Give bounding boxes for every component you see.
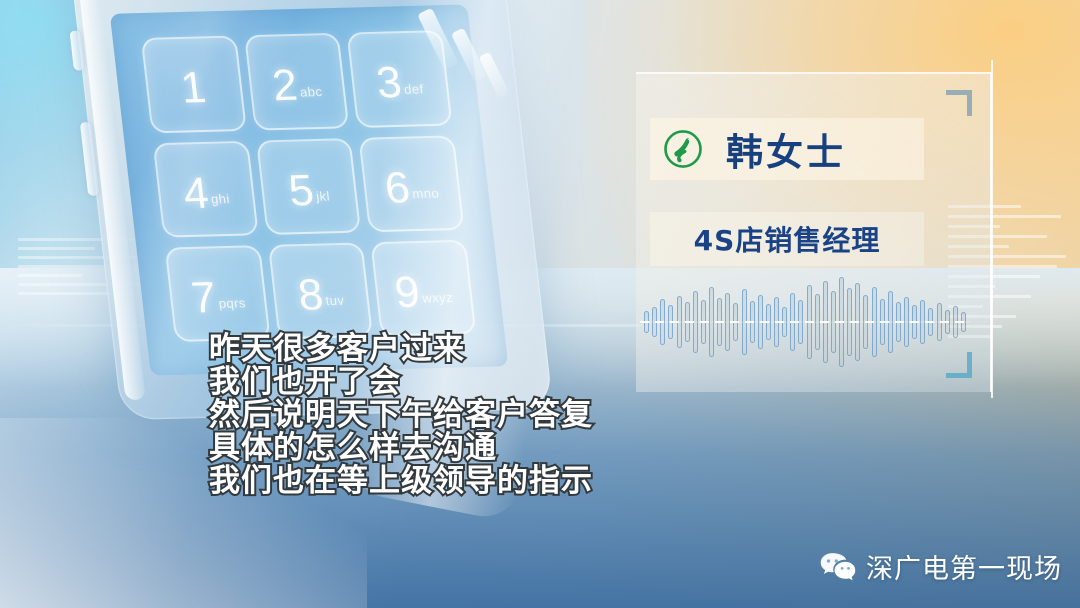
- dialpad-key-5[interactable]: 5 jkl: [256, 138, 361, 235]
- key-digit: 6: [383, 168, 412, 208]
- phone-screen: 1 2 abc 3 def 4 ghi 5 jkl: [110, 5, 508, 376]
- key-digit: 3: [375, 63, 404, 103]
- subtitle-line: 昨天很多客户过来: [209, 333, 909, 366]
- caller-name: 韩女士: [726, 122, 846, 176]
- dialpad-key-3[interactable]: 3 def: [347, 31, 452, 128]
- dialpad-key-8[interactable]: 8 tuv: [268, 242, 373, 339]
- watermark-text: 深广电第一现场: [866, 547, 1062, 586]
- caller-name-row: 韩女士: [650, 118, 924, 180]
- subtitle-line: 具体的怎么样去沟通: [209, 432, 909, 465]
- waveform-centerline: [640, 321, 970, 323]
- phone-handset-icon: [662, 128, 704, 170]
- subtitle-line: 然后说明天下午给客户答复: [209, 399, 909, 432]
- key-digit: 9: [393, 273, 422, 313]
- subtitle-block: 昨天很多客户过来我们也开了会然后说明天下午给客户答复具体的怎么样去沟通我们也在等…: [209, 333, 909, 498]
- key-digit: 8: [296, 275, 325, 315]
- panel-divider-line: [991, 60, 993, 398]
- key-digit: 1: [179, 69, 208, 109]
- caller-title: 4S店销售经理: [694, 219, 881, 259]
- dialpad-key-6[interactable]: 6 mno: [359, 135, 464, 232]
- wechat-logo-icon: [819, 551, 857, 583]
- key-letters: jkl: [315, 189, 331, 210]
- key-digit: 5: [287, 171, 316, 211]
- broadcast-stage: 1 2 abc 3 def 4 ghi 5 jkl: [0, 0, 1080, 608]
- dialpad-key-1[interactable]: 1: [141, 36, 246, 133]
- key-letters: tuv: [325, 293, 346, 314]
- dialpad-key-4[interactable]: 4 ghi: [153, 141, 258, 238]
- key-letters: abc: [299, 84, 324, 105]
- corner-bracket-top-right-icon: [946, 90, 972, 116]
- key-letters: ghi: [210, 191, 231, 212]
- key-digit: 4: [181, 173, 210, 213]
- dialpad[interactable]: 1 2 abc 3 def 4 ghi 5 jkl: [141, 31, 476, 343]
- key-letters: mno: [412, 186, 441, 208]
- key-letters: def: [403, 81, 425, 102]
- key-digit: 2: [270, 66, 299, 106]
- caller-title-row: 4S店销售经理: [650, 212, 924, 266]
- subtitle-line: 我们也开了会: [209, 366, 909, 399]
- key-digit: 7: [189, 278, 218, 318]
- dialpad-key-9[interactable]: 9 wxyz: [370, 240, 475, 337]
- dialpad-key-7[interactable]: 7 pqrs: [165, 245, 270, 342]
- subtitle-line: 我们也在等上级领导的指示: [209, 465, 909, 498]
- key-letters: wxyz: [421, 290, 454, 312]
- key-letters: [209, 102, 210, 108]
- channel-watermark: 深广电第一现场: [819, 547, 1062, 586]
- dialpad-key-2[interactable]: 2 abc: [244, 33, 349, 130]
- key-letters: pqrs: [218, 296, 247, 318]
